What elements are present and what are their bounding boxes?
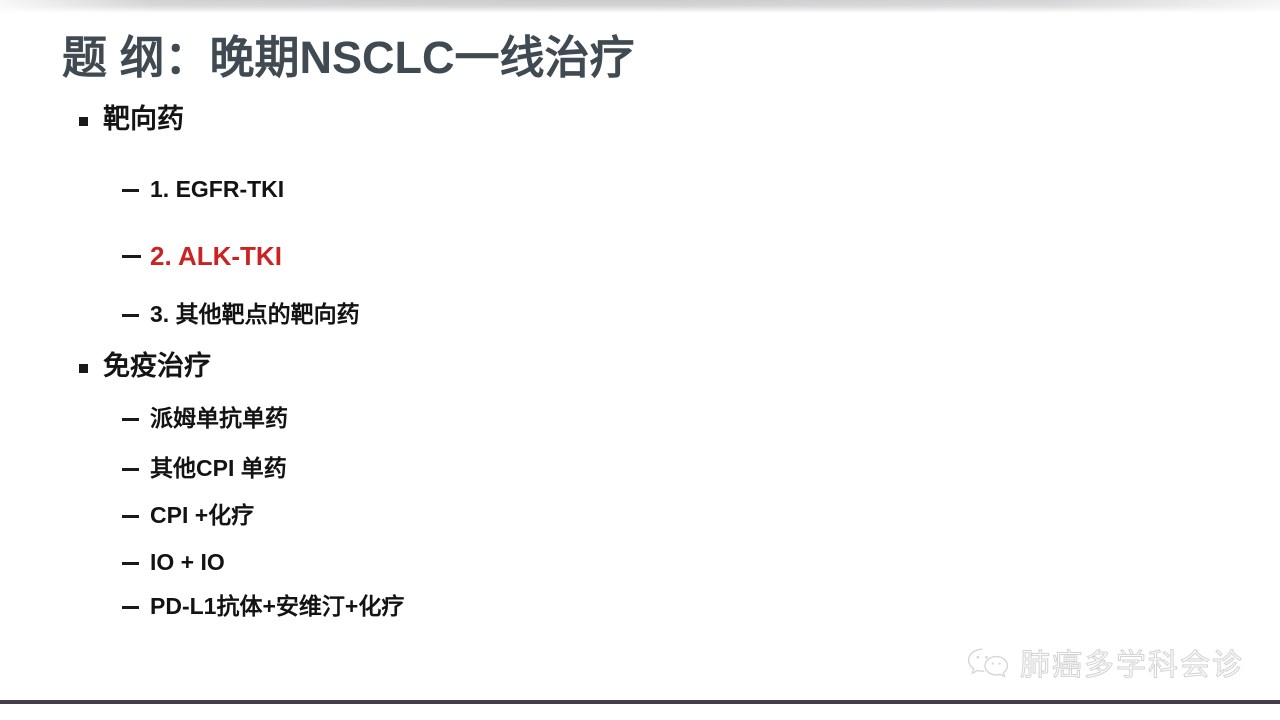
dash-bullet [122,314,139,317]
dash-bullet [122,562,139,565]
outline-item-level2: 1. EGFR-TKI [0,178,284,201]
watermark: 肺癌多学科会诊 [966,646,1244,685]
dash-bullet [122,189,139,192]
dash-bullet [122,468,139,471]
dash-bullet [122,255,141,258]
outline-item-label: IO + IO [150,549,225,575]
outline-item-level2: 2. ALK-TKI [0,243,282,269]
dash-bullet [122,606,139,609]
page-title: 题 纲：晚期NSCLC一线治疗 [62,32,635,84]
outline-item-level2: 派姆单抗单药 [0,407,288,430]
outline-item-level1: 免疫治疗 [0,353,211,380]
outline-item-label: 派姆单抗单药 [150,405,288,431]
outline-item-level2: PD-L1抗体+安维汀+化疗 [0,595,404,618]
outline-item-label: 其他CPI 单药 [150,455,287,481]
outline-item-level2: IO + IO [0,551,225,574]
watermark-label: 肺癌多学科会诊 [1020,651,1244,681]
wechat-icon [966,646,1010,685]
dash-bullet [122,515,139,518]
outline-item-label: CPI +化疗 [150,502,254,528]
outline-item-level2: 3. 其他靶点的靶向药 [0,303,360,326]
outline-item-level2: 其他CPI 单药 [0,457,287,480]
square-bullet [79,364,88,373]
outline-item-level2: CPI +化疗 [0,504,254,527]
outline-item-label: 2. ALK-TKI [150,241,282,271]
dash-bullet [122,418,139,421]
outline-item-label: 1. EGFR-TKI [150,176,284,202]
outline-item-level1: 靶向药 [0,106,184,133]
outline-item-label: 免疫治疗 [103,351,211,381]
square-bullet [79,117,88,126]
outline-item-label: 靶向药 [103,104,184,134]
top-edge-gradient [0,0,1280,13]
outline-item-label: 3. 其他靶点的靶向药 [150,301,360,327]
slide-canvas: 题 纲：晚期NSCLC一线治疗 靶向药1. EGFR-TKI2. ALK-TKI… [0,0,1280,720]
bottom-rule [0,700,1280,704]
outline-item-label: PD-L1抗体+安维汀+化疗 [150,593,404,619]
